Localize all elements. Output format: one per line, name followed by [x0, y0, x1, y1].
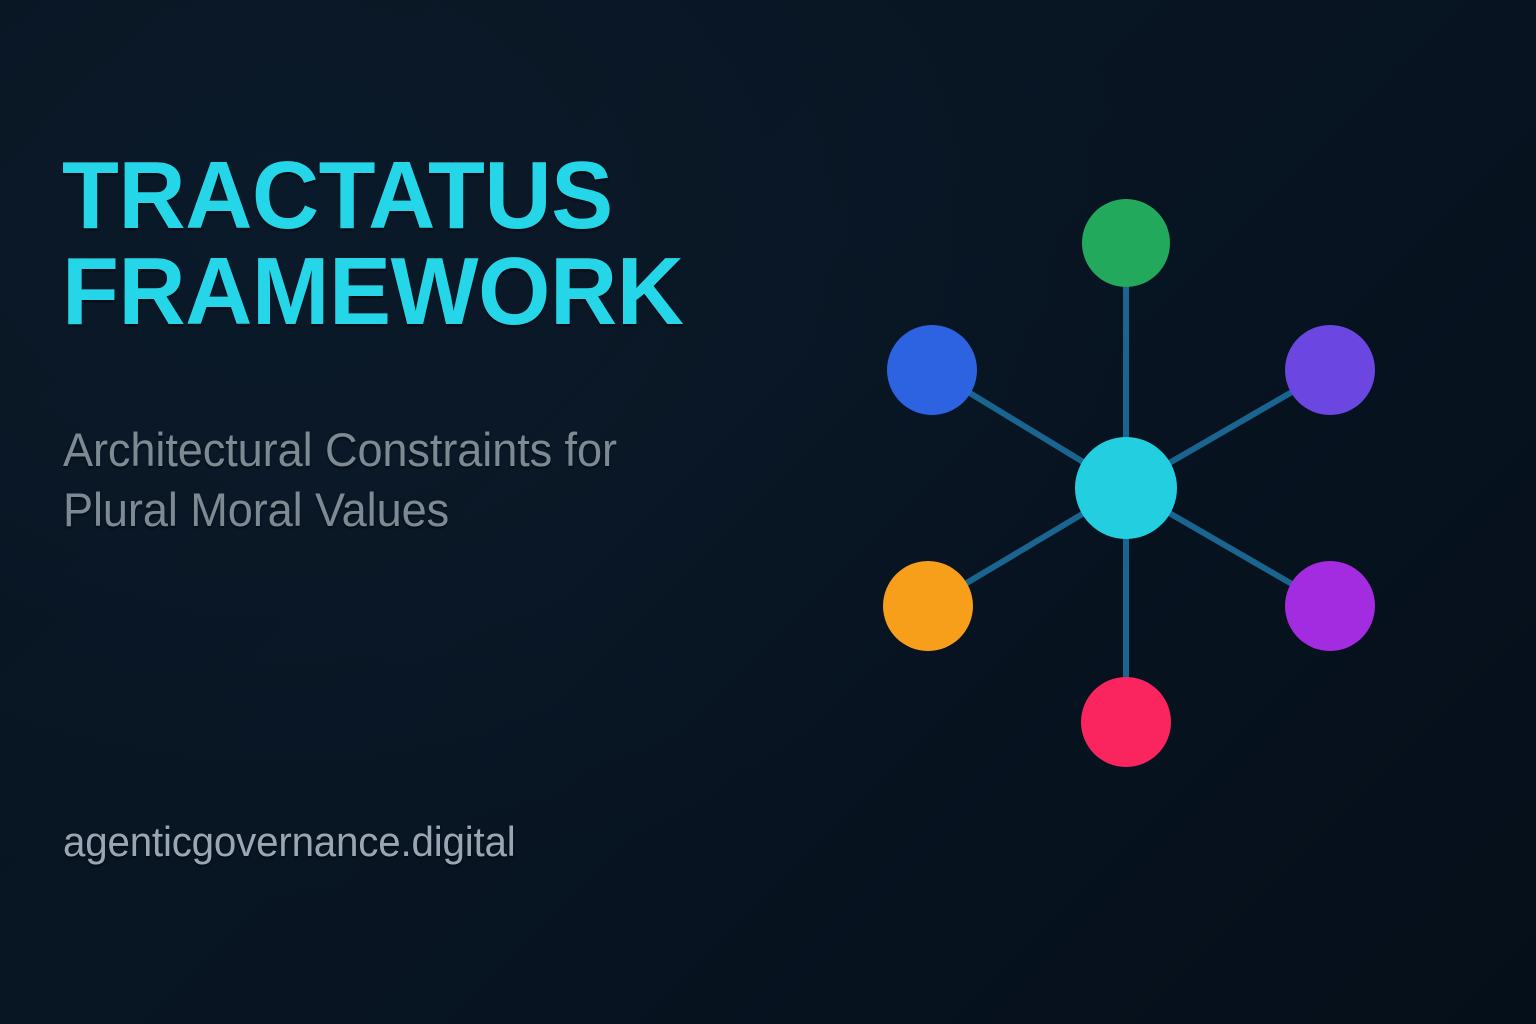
site-url-label: agenticgovernance.digital	[63, 818, 515, 866]
node-blue-upper-left	[887, 325, 977, 415]
center-node	[1075, 437, 1177, 539]
network-diagram	[846, 168, 1426, 808]
node-purple-lower-right	[1285, 561, 1375, 651]
page-subtitle: Architectural Constraints for Plural Mor…	[63, 420, 773, 540]
node-indigo-upper-right	[1285, 325, 1375, 415]
page-title: TRACTATUS FRAMEWORK	[62, 148, 799, 340]
node-orange-lower-left	[883, 561, 973, 651]
hero-text-block: TRACTATUS FRAMEWORK Architectural Constr…	[62, 0, 842, 1024]
poster-canvas: TRACTATUS FRAMEWORK Architectural Constr…	[0, 0, 1536, 1024]
node-layer	[883, 199, 1375, 767]
node-green-top	[1082, 199, 1170, 287]
node-pink-bottom	[1081, 677, 1171, 767]
network-diagram-svg	[846, 168, 1426, 808]
